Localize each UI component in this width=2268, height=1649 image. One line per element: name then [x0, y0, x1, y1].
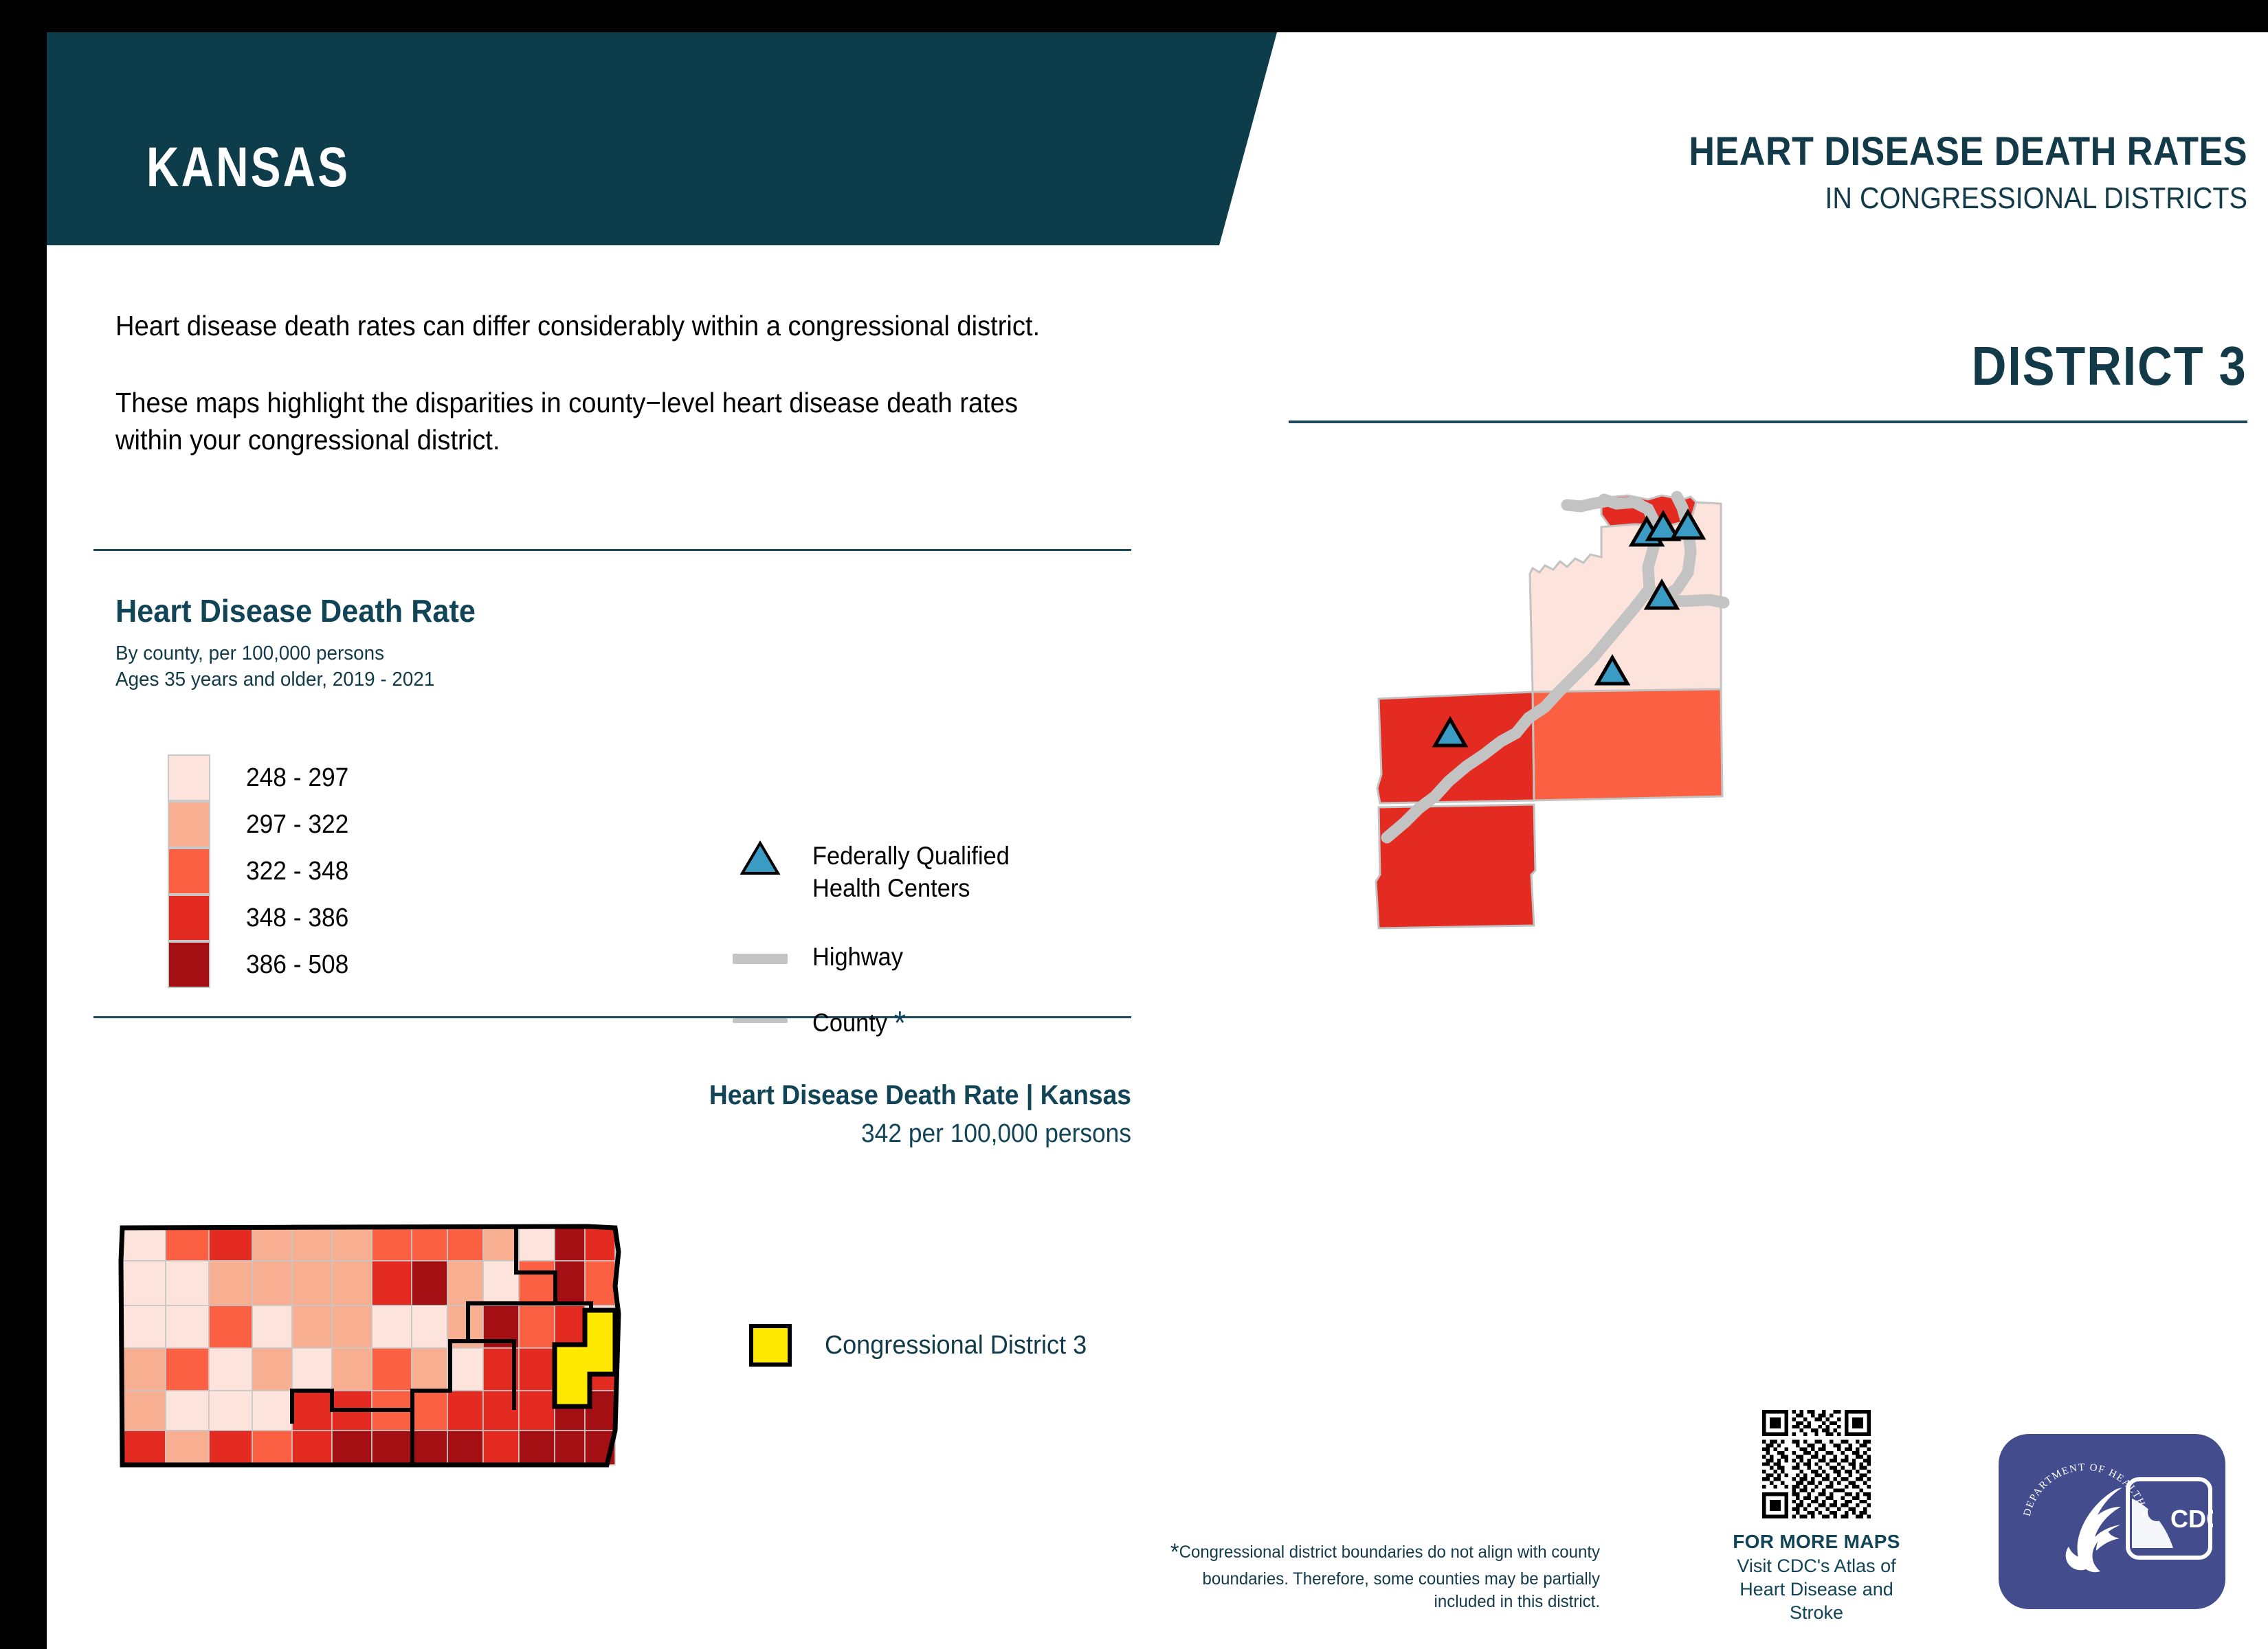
district-3-counties [1339, 486, 1889, 980]
legend-swatch-4 [168, 895, 210, 941]
state-title: KANSAS [146, 135, 350, 200]
legend-item-county: County * [727, 1002, 1024, 1044]
state-rate-value: 342 per 100,000 persons [122, 1119, 1131, 1149]
state-rate-block: Heart Disease Death Rate | Kansas 342 pe… [47, 1080, 1131, 1149]
fqhc-line-2: Health Centers [812, 872, 1010, 904]
intro-paragraph-1: Heart disease death rates can differ con… [115, 307, 1074, 344]
cd-legend-label: Congressional District 3 [825, 1331, 1087, 1360]
legend-item-fqhc: Federally Qualified Health Centers [727, 840, 1024, 905]
county-miami [1377, 692, 1534, 803]
legend-class-row: 386 - 508 [168, 941, 357, 988]
divider-upper [93, 549, 1131, 551]
legend-swatch-3 [168, 848, 210, 895]
legend-label-county: County * [812, 1002, 906, 1044]
legend-item-highway: Highway [727, 941, 1024, 978]
state-rate-title: Heart Disease Death Rate | Kansas [122, 1080, 1131, 1111]
page-subtitle: IN CONGRESSIONAL DISTRICTS [1689, 181, 2247, 216]
triangle-icon [740, 840, 780, 876]
county-text: County [812, 1009, 887, 1037]
footnote-text: Congressional district boundaries do not… [1179, 1543, 1600, 1611]
legend-subtitle-line-1: By county, per 100,000 persons [115, 640, 434, 666]
legend-swatch-2 [168, 801, 210, 848]
legend-subtitle: By county, per 100,000 persons Ages 35 y… [115, 640, 434, 693]
county-polygons-detail [1376, 495, 1722, 928]
legend-label-highway: Highway [812, 941, 903, 973]
cdc-letters: CDC [2170, 1505, 2213, 1533]
county-franklin [1533, 689, 1722, 800]
legend-item-congressional-district: Congressional District 3 [749, 1324, 1100, 1367]
fqhc-line-1: Federally Qualified [812, 840, 1010, 872]
intro-paragraph-2: These maps highlight the disparities in … [115, 384, 1074, 458]
hhs-bird-glyph [2066, 1488, 2122, 1572]
fqhc-triangle-icon [727, 840, 793, 877]
legend-label-fqhc: Federally Qualified Health Centers [812, 840, 1010, 905]
legend-label-5: 386 - 508 [246, 950, 348, 980]
page-canvas: KANSAS HEART DISEASE DEATH RATES IN CONG… [47, 32, 2268, 1649]
highway-line-icon [727, 941, 793, 978]
cdc-wordmark-icon: CDC [2125, 1467, 2213, 1570]
legend-class-row: 248 - 297 [168, 754, 357, 801]
legend-title: Heart Disease Death Rate [115, 592, 476, 629]
legend-label-3: 322 - 348 [246, 857, 348, 886]
more-maps-line-1: Visit CDC's Atlas of [1724, 1555, 1909, 1578]
more-maps-heading: FOR MORE MAPS [1724, 1531, 1909, 1553]
page-title: HEART DISEASE DEATH RATES [1689, 128, 2247, 175]
more-maps-block[interactable]: FOR MORE MAPS Visit CDC's Atlas of Heart… [1724, 1410, 1909, 1624]
district-heading: DISTRICT 3 [1972, 335, 2247, 398]
legend-class-row: 297 - 322 [168, 801, 357, 848]
legend-swatch-1 [168, 754, 210, 801]
footnote-marker: * [894, 1005, 906, 1042]
kansas-county-choropleth [102, 1204, 652, 1479]
legend-label-1: 248 - 297 [246, 763, 348, 793]
legend-class-row: 322 - 348 [168, 848, 357, 895]
cdc-hhs-logo[interactable]: DEPARTMENT OF HEALTH & HUMAN SERVICES·US… [1999, 1434, 2225, 1609]
county-line-icon [727, 1002, 793, 1040]
county-polygons [120, 1225, 615, 1465]
more-maps-line-2: Heart Disease and Stroke [1724, 1578, 1909, 1625]
legend-subtitle-line-2: Ages 35 years and older, 2019 - 2021 [115, 666, 434, 693]
qr-code-icon[interactable] [1762, 1410, 1871, 1518]
footnote-star: * [1170, 1539, 1179, 1565]
symbol-legend: Federally Qualified Health Centers Highw… [727, 840, 1024, 1044]
cd-swatch-icon [749, 1324, 792, 1367]
more-maps-subtext: Visit CDC's Atlas of Heart Disease and S… [1724, 1555, 1909, 1624]
district-rule [1289, 420, 2247, 423]
legend-label-4: 348 - 386 [246, 904, 348, 933]
intro-text: Heart disease death rates can differ con… [115, 307, 1074, 458]
footnote: *Congressional district boundaries do no… [1164, 1537, 1600, 1613]
legend-label-2: 297 - 322 [246, 810, 348, 840]
state-reference-map [102, 1204, 652, 1482]
legend-class-row: 348 - 386 [168, 895, 357, 941]
district-detail-map [1339, 486, 1889, 984]
header-titles: HEART DISEASE DEATH RATES IN CONGRESSION… [1627, 128, 2247, 216]
legend-swatch-5 [168, 941, 210, 988]
legend-color-ramp: 248 - 297 297 - 322 322 - 348 348 - 386 … [168, 754, 357, 988]
